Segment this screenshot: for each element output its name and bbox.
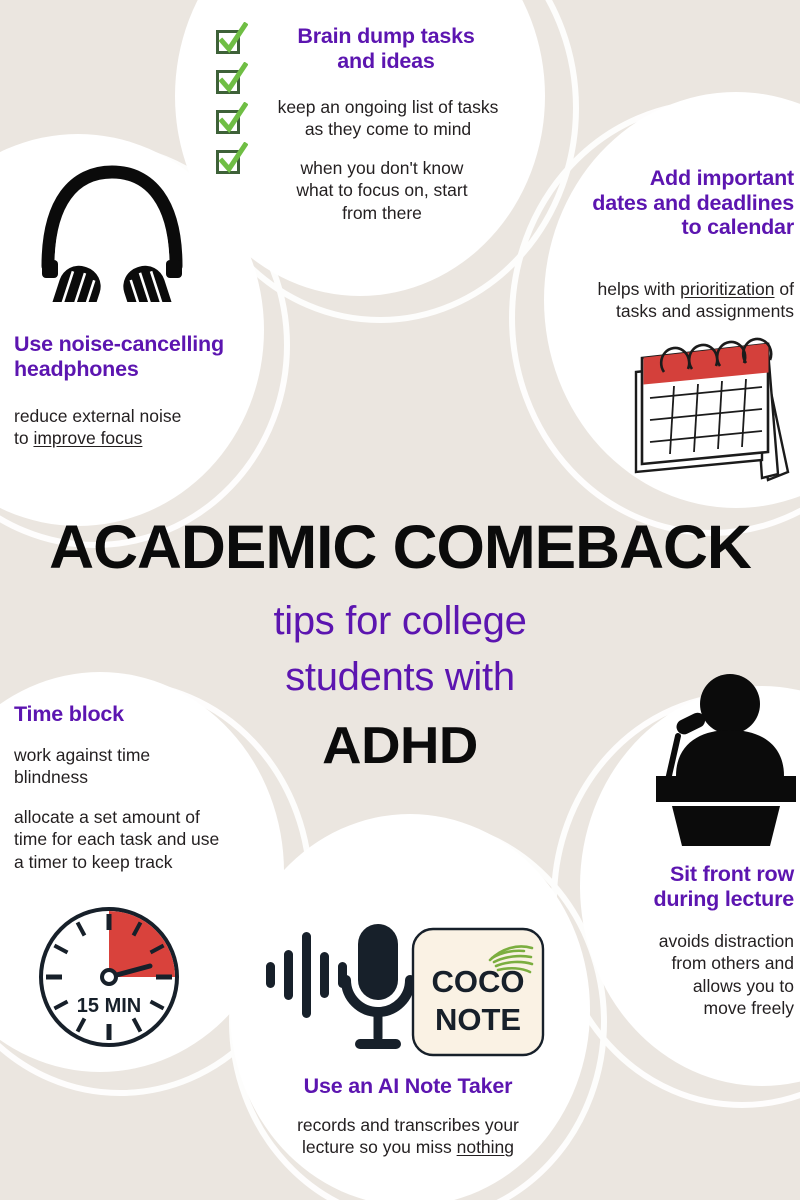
timer-label: 15 MIN [77,995,141,1017]
timer-clock-icon: 15 MIN [34,902,184,1057]
checkbox-item [216,26,246,56]
calendar-body: helps with prioritization of tasks and a… [520,278,794,323]
calendar-body-pre: helps with [597,279,680,299]
brain-dump-heading: Brain dump tasks and ideas [262,24,510,73]
headphones-body-pre: to [14,428,33,448]
checkbox-item [216,66,246,96]
coconote-line1: COCO [432,964,525,999]
headphones-body: reduce external noise to improve focus [14,405,274,450]
coconote-line2: NOTE [435,1002,521,1037]
front-row-body: avoids distraction from others and allow… [584,930,794,1020]
title-subline-1: tips for college [150,594,650,649]
page-title: ACADEMIC COMEBACK [0,512,800,582]
note-body-underlined: nothing [457,1137,514,1157]
headphones-heading: Use noise-cancelling headphones [14,332,284,381]
calendar-body-post: of [775,279,794,299]
time-block-body-2: allocate a set amount of time for each t… [14,806,282,873]
checkmark-icon [218,62,248,96]
note-body-pre: lecture so you miss [302,1137,457,1157]
brain-dump-body-2: when you don't know what to focus on, st… [274,157,490,224]
title-subline-2: students with [150,650,650,705]
infographic-poster: Brain dump tasks and ideas keep an ongoi… [0,0,800,1200]
checkmark-icon [218,22,248,56]
checkmark-icon [218,142,248,176]
headphones-icon [36,162,188,307]
front-row-heading: Sit front row during lecture [584,862,794,911]
ai-note-taker-body: records and transcribes your lecture so … [248,1114,568,1159]
calendar-body-underlined: prioritization [680,279,774,299]
time-block-body-1: work against time blindness [14,744,264,789]
coconote-logo: COCO NOTE [410,926,546,1063]
calendar-heading: Add important dates and deadlines to cal… [556,166,794,240]
headphones-body-underlined: improve focus [33,428,142,448]
brain-dump-body-1: keep an ongoing list of tasks as they co… [238,96,538,141]
podium-speaker-icon [650,668,800,855]
ai-note-taker-heading: Use an AI Note Taker [258,1074,558,1099]
microphone-waveform-icon [262,918,412,1063]
time-block-heading: Time block [14,702,264,727]
checkbox-item [216,146,246,176]
desk-calendar-icon [612,332,798,489]
